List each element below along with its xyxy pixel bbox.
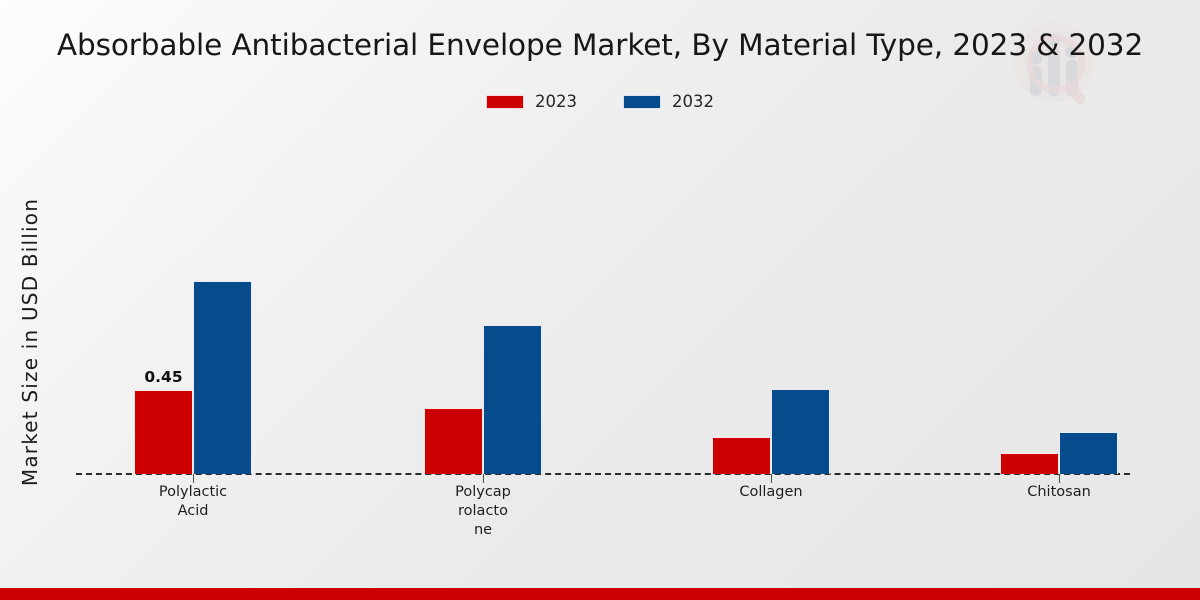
x-axis-tick bbox=[771, 474, 772, 483]
x-label-chitosan: Chitosan bbox=[984, 483, 1134, 502]
plot-area: Market Size in USD Billion 0.45 Polylact… bbox=[0, 0, 1200, 600]
x-label-line: Acid bbox=[118, 502, 268, 521]
bar-2032-polylactic-acid[interactable] bbox=[193, 281, 252, 474]
bar-2032-collagen[interactable] bbox=[771, 389, 830, 474]
bar-2023-polycaprolactone[interactable] bbox=[424, 408, 483, 474]
x-axis-tick bbox=[483, 474, 484, 483]
bar-2023-chitosan[interactable] bbox=[1000, 453, 1059, 474]
x-label-line: Chitosan bbox=[984, 483, 1134, 502]
x-label-line: Polylactic bbox=[118, 483, 268, 502]
x-label-line: Collagen bbox=[696, 483, 846, 502]
x-label-line: ne bbox=[408, 521, 558, 540]
x-axis-tick bbox=[193, 474, 194, 483]
x-label-line: rolacto bbox=[408, 502, 558, 521]
x-label-polylactic-acid: Polylactic Acid bbox=[118, 483, 268, 521]
bar-2032-chitosan[interactable] bbox=[1059, 432, 1118, 474]
bar-2023-collagen[interactable] bbox=[712, 437, 771, 474]
footer-accent-strip bbox=[0, 588, 1200, 600]
chart-figure: Absorbable Antibacterial Envelope Market… bbox=[0, 0, 1200, 600]
x-label-line: Polycap bbox=[408, 483, 558, 502]
x-label-polycaprolactone: Polycap rolacto ne bbox=[408, 483, 558, 540]
bar-2032-polycaprolactone[interactable] bbox=[483, 325, 542, 474]
bar-2023-polylactic-acid[interactable]: 0.45 bbox=[134, 390, 193, 474]
x-label-collagen: Collagen bbox=[696, 483, 846, 502]
y-axis-title: Market Size in USD Billion bbox=[18, 142, 42, 542]
bar-value-label: 0.45 bbox=[144, 368, 182, 386]
x-axis-tick bbox=[1059, 474, 1060, 483]
